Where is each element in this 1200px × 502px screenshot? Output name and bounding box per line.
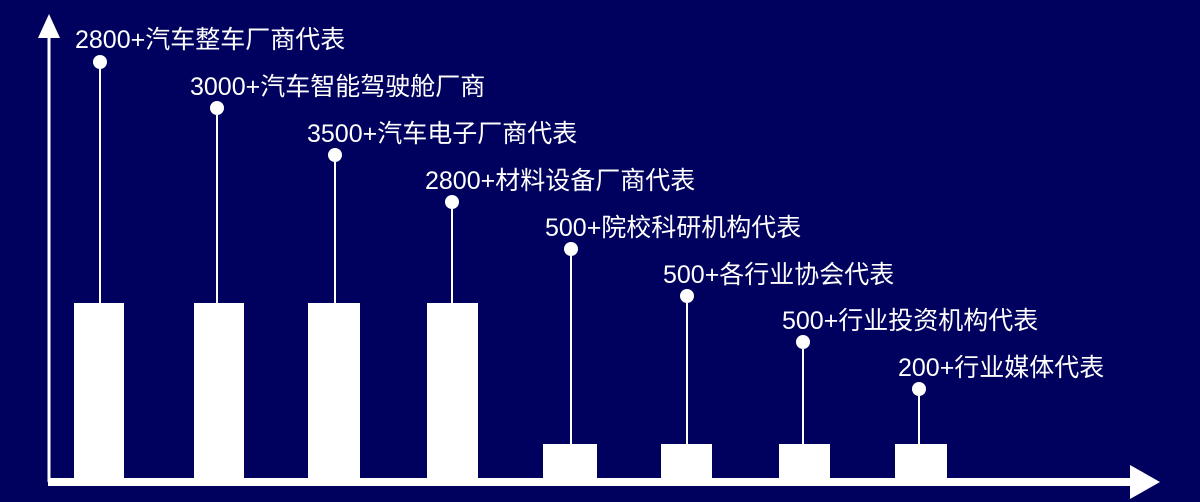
chart-axes <box>0 0 1200 502</box>
x-axis-arrow-icon <box>1130 465 1160 499</box>
bar-8 <box>895 444 947 482</box>
bar-7 <box>779 444 830 482</box>
bar-1 <box>74 303 124 482</box>
annotation-label-5: 500+院校科研机构代表 <box>545 214 801 242</box>
annotation-label-3: 3500+汽车电子厂商代表 <box>307 120 577 148</box>
marker-dot-5 <box>564 242 578 256</box>
annotation-label-8: 200+行业媒体代表 <box>898 354 1104 382</box>
bar-4 <box>427 303 478 482</box>
annotation-label-6: 500+各行业协会代表 <box>663 261 894 289</box>
marker-dot-8 <box>912 382 926 396</box>
leader-line-3 <box>334 162 336 303</box>
y-axis-arrow-icon <box>38 14 60 38</box>
bar-5 <box>543 444 597 482</box>
marker-dot-4 <box>445 195 459 209</box>
marker-dot-7 <box>796 335 810 349</box>
leader-line-7 <box>802 349 804 444</box>
marker-dot-6 <box>680 289 694 303</box>
bar-6 <box>661 444 712 482</box>
leader-line-8 <box>918 396 920 444</box>
leader-line-2 <box>216 115 218 303</box>
bar-2 <box>194 303 244 482</box>
leader-line-1 <box>99 69 101 303</box>
annotation-label-7: 500+行业投资机构代表 <box>782 307 1038 335</box>
leader-line-4 <box>451 209 453 303</box>
annotation-label-2: 3000+汽车智能驾驶舱厂商 <box>190 73 485 101</box>
marker-dot-1 <box>93 55 107 69</box>
annotation-label-4: 2800+材料设备厂商代表 <box>425 167 695 195</box>
bar-3 <box>308 303 360 482</box>
leader-line-6 <box>686 303 688 444</box>
chart-canvas: 2800+汽车整车厂商代表3000+汽车智能驾驶舱厂商3500+汽车电子厂商代表… <box>0 0 1200 502</box>
marker-dot-2 <box>210 101 224 115</box>
marker-dot-3 <box>328 148 342 162</box>
annotation-label-1: 2800+汽车整车厂商代表 <box>75 26 345 54</box>
leader-line-5 <box>570 256 572 444</box>
